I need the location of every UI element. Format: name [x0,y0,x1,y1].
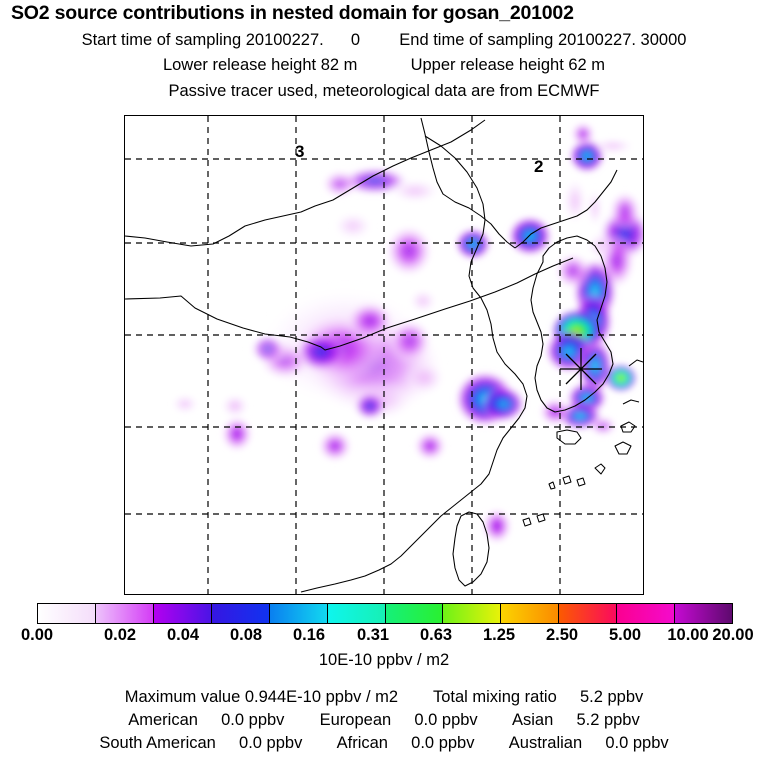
max-value-label: Maximum value [125,688,241,706]
colorbar-segment-9[interactable] [559,604,617,623]
max-value-value: 0.944E-10 ppbv / m2 [245,688,398,706]
release-site-marker [560,348,602,390]
plot-page: SO2 source contributions in nested domai… [0,0,768,768]
colorbar-tick-7: 1.25 [483,626,515,645]
colorbar-tick-4: 0.16 [293,626,325,645]
colorbar-segment-1[interactable] [96,604,154,623]
page-title: SO2 source contributions in nested domai… [11,2,574,25]
upper-release-value: 62 m [568,56,605,74]
colorbar-tick-3: 0.08 [230,626,262,645]
end-time-label: End time of sampling [399,31,553,49]
start-time-value: 0 [351,31,360,49]
region-european-label: European [320,711,392,729]
colorbar-segment-0[interactable] [38,604,96,623]
colorbar-segment-10[interactable] [617,604,675,623]
region-australian-label: Australian [509,734,582,752]
end-time-value: 30000 [641,31,687,49]
colorbar-tick-6: 0.63 [420,626,452,645]
colorbar-tick-2: 0.04 [167,626,199,645]
colorbar-unit-label: 10E-10 ppbv / m2 [0,651,768,670]
grid-label-2: 2 [534,157,543,177]
region-african-label: African [337,734,388,752]
region-south-american-label: South American [99,734,215,752]
colorbar-tick-11: 20.00 [712,626,753,645]
region-asian-value: 5.2 ppbv [576,711,639,729]
colorbar-tick-1: 0.02 [104,626,136,645]
release-height-line: Lower release height 82 m Upper release … [0,56,768,75]
colorbar-segment-7[interactable] [443,604,501,623]
colorbar-tick-8: 2.50 [546,626,578,645]
region-african-value: 0.0 ppbv [411,734,474,752]
end-date-value: 20100227. [558,31,636,49]
region-american-label: American [128,711,198,729]
lower-release-label: Lower release height [163,56,316,74]
method-note: Passive tracer used, meteorological data… [0,82,768,101]
footer-region-row-1: American 0.0 ppbv European 0.0 ppbv Asia… [0,711,768,730]
map-plot-area[interactable]: 3 2 [124,115,644,595]
colorbar-segment-3[interactable] [212,604,270,623]
total-mixing-ratio-label: Total mixing ratio [433,688,557,706]
colorbar-segment-4[interactable] [270,604,328,623]
colorbar-tick-0: 0.00 [21,626,53,645]
colorbar-tick-9: 5.00 [609,626,641,645]
region-european-value: 0.0 ppbv [414,711,477,729]
colorbar-segment-2[interactable] [154,604,212,623]
region-asian-label: Asian [512,711,553,729]
colorbar-tick-labels: 0.000.020.040.080.160.310.631.252.505.00… [0,626,768,648]
colorbar-segment-6[interactable] [386,604,444,623]
upper-release-label: Upper release height [411,56,564,74]
colorbar-segment-11[interactable] [675,604,732,623]
start-time-label: Start time of sampling [82,31,242,49]
start-date-value: 20100227. [246,31,324,49]
region-south-american-value: 0.0 ppbv [239,734,302,752]
concentration-field [171,122,643,544]
total-mixing-ratio-value: 5.2 ppbv [580,688,643,706]
colorbar-tick-5: 0.31 [357,626,389,645]
lower-release-value: 82 m [321,56,358,74]
region-american-value: 0.0 ppbv [221,711,284,729]
colorbar-segment-5[interactable] [328,604,386,623]
colorbar[interactable] [37,603,733,624]
colorbar-segment-8[interactable] [501,604,559,623]
footer-summary-line: Maximum value 0.944E-10 ppbv / m2 Total … [0,688,768,707]
footer-region-row-2: South American 0.0 ppbv African 0.0 ppbv… [0,734,768,753]
colorbar-tick-10: 10.00 [667,626,708,645]
grid-label-3: 3 [295,142,304,162]
sampling-time-line: Start time of sampling 20100227. 0 End t… [0,31,768,50]
region-australian-value: 0.0 ppbv [605,734,668,752]
